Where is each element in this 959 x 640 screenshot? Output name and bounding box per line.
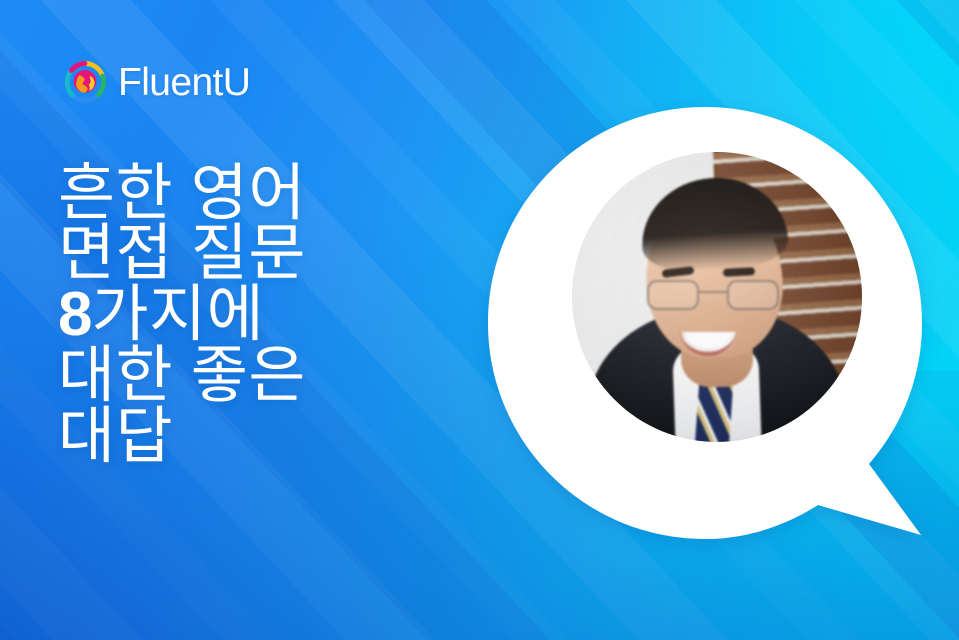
brand-wordmark: FluentU bbox=[118, 63, 250, 102]
headline-line-3: 8가지에 bbox=[58, 285, 488, 346]
speech-bubble bbox=[488, 107, 922, 539]
brand-logo[interactable]: FluentU bbox=[63, 60, 250, 104]
globe-logo-icon bbox=[63, 60, 107, 104]
portrait-light-overlay bbox=[572, 152, 862, 442]
headline-line-1: 흔한 영어 bbox=[58, 164, 488, 225]
portrait-photo bbox=[572, 152, 862, 442]
headline-number: 8 bbox=[58, 280, 91, 349]
headline: 흔한 영어 면접 질문 8가지에 대한 좋은 대답 bbox=[58, 164, 488, 468]
headline-line-5: 대답 bbox=[58, 407, 488, 468]
headline-line-4: 대한 좋은 bbox=[58, 346, 488, 407]
headline-line-3-text: 가지에 bbox=[91, 280, 264, 349]
headline-line-2: 면접 질문 bbox=[58, 224, 488, 285]
promo-card: FluentU 흔한 영어 면접 질문 8가지에 대한 좋은 대답 bbox=[0, 0, 959, 640]
